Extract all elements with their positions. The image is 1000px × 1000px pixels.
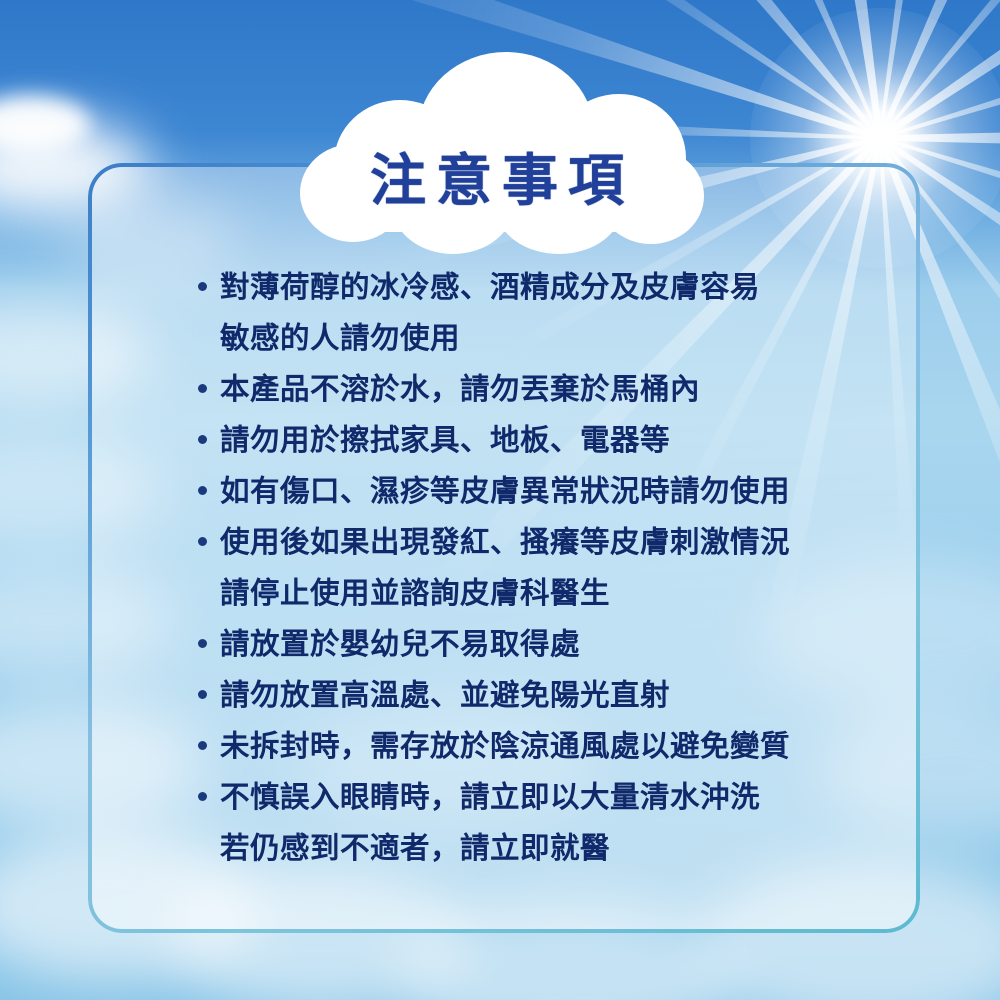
page-title: 注意事項	[300, 52, 704, 254]
notice-line: 未拆封時，需存放於陰涼通風處以避免變質	[220, 721, 888, 772]
notice-line: 請放置於嬰幼兒不易取得處	[220, 619, 888, 670]
bullet-dot-icon	[198, 435, 207, 444]
bullet-dot-icon	[198, 792, 207, 801]
notice-line: 如有傷口、濕疹等皮膚異常狀況時請勿使用	[220, 466, 888, 517]
notice-line-continued: 請停止使用並諮詢皮膚科醫生	[220, 568, 888, 619]
notice-line: 對薄荷醇的冰冷感、酒精成分及皮膚容易	[220, 262, 888, 313]
bullet-dot-icon	[198, 384, 207, 393]
cloud-decor	[0, 96, 90, 154]
notice-line: 請勿用於擦拭家具、地板、電器等	[220, 415, 888, 466]
bullet-dot-icon	[198, 639, 207, 648]
bullet-dot-icon	[198, 741, 207, 750]
notice-item: 請勿用於擦拭家具、地板、電器等	[188, 415, 888, 466]
bullet-dot-icon	[198, 537, 207, 546]
notice-line: 請勿放置高溫處、並避免陽光直射	[220, 670, 888, 721]
notice-item: 本產品不溶於水，請勿丟棄於馬桶內	[188, 364, 888, 415]
notice-item: 對薄荷醇的冰冷感、酒精成分及皮膚容易敏感的人請勿使用	[188, 262, 888, 364]
notice-line: 不慎誤入眼睛時，請立即以大量清水沖洗	[220, 772, 888, 823]
notice-item: 請勿放置高溫處、並避免陽光直射	[188, 670, 888, 721]
notice-item: 請放置於嬰幼兒不易取得處	[188, 619, 888, 670]
notice-line: 使用後如果出現發紅、搔癢等皮膚刺激情況	[220, 517, 888, 568]
notice-item: 未拆封時，需存放於陰涼通風處以避免變質	[188, 721, 888, 772]
notice-item: 不慎誤入眼睛時，請立即以大量清水沖洗若仍感到不適者，請立即就醫	[188, 772, 888, 874]
bullet-dot-icon	[198, 282, 207, 291]
bullet-dot-icon	[198, 486, 207, 495]
notice-line-continued: 若仍感到不適者，請立即就醫	[220, 823, 888, 874]
notice-item: 使用後如果出現發紅、搔癢等皮膚刺激情況請停止使用並諮詢皮膚科醫生	[188, 517, 888, 619]
poster-canvas: 注意事項 對薄荷醇的冰冷感、酒精成分及皮膚容易敏感的人請勿使用本產品不溶於水，請…	[0, 0, 1000, 1000]
notice-line-continued: 敏感的人請勿使用	[220, 313, 888, 364]
notice-item: 如有傷口、濕疹等皮膚異常狀況時請勿使用	[188, 466, 888, 517]
bullet-dot-icon	[198, 690, 207, 699]
notice-list: 對薄荷醇的冰冷感、酒精成分及皮膚容易敏感的人請勿使用本產品不溶於水，請勿丟棄於馬…	[188, 262, 888, 874]
cloud-title-badge: 注意事項	[300, 52, 704, 254]
notice-line: 本產品不溶於水，請勿丟棄於馬桶內	[220, 364, 888, 415]
